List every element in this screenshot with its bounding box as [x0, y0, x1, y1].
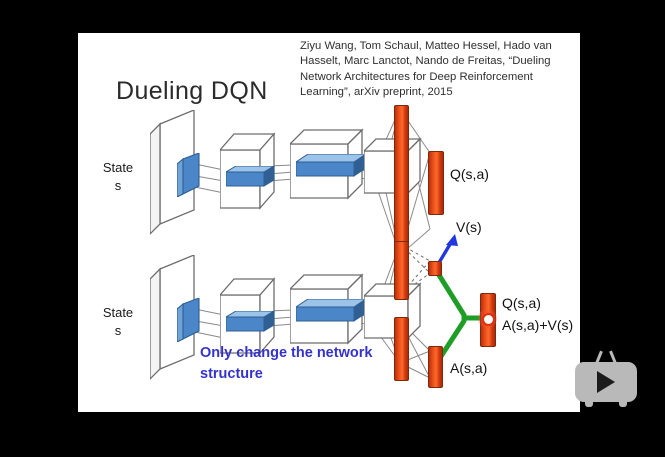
- tv-foot-right-icon: [619, 400, 627, 407]
- conv-filter-bottom-1: [226, 311, 278, 333]
- annotation-note: Only change the network structure: [200, 343, 380, 385]
- state-word: State: [90, 304, 146, 322]
- output-layer-top: [428, 151, 444, 215]
- video-play-button[interactable]: [575, 350, 637, 408]
- page-title: Dueling DQN: [116, 77, 268, 106]
- value-label: V(s): [456, 219, 482, 235]
- state-sub: s: [90, 322, 146, 340]
- state-label-top: State s: [90, 159, 146, 195]
- screen-root: State s: [0, 0, 665, 457]
- state-word: State: [90, 159, 146, 177]
- dueling-q-label: Q(s,a): [502, 295, 541, 311]
- cursor-dot: [482, 313, 495, 326]
- dueling-formula-label: A(s,a)+V(s): [502, 317, 573, 333]
- paper-citation: Ziyu Wang, Tom Schaul, Matteo Hessel, Ha…: [300, 39, 576, 101]
- cursor-highlight: [482, 313, 493, 324]
- conv-filter-top-2: [296, 154, 370, 178]
- value-stream-fc: [394, 241, 409, 300]
- conv-filter-bottom-2: [296, 299, 370, 323]
- q-label-top: Q(s,a): [450, 166, 489, 182]
- conv-filter-bottom-0: [177, 298, 202, 342]
- conv-filter-top-0: [177, 153, 202, 197]
- conv-filter-top-1: [226, 166, 278, 188]
- tv-foot-left-icon: [585, 400, 593, 407]
- presentation-slide: State s: [78, 33, 580, 412]
- state-label-bottom: State s: [90, 304, 146, 340]
- advantage-stream-fc: [394, 317, 409, 381]
- advantage-stream-output: [428, 346, 443, 388]
- advantage-label: A(s,a): [450, 360, 487, 376]
- state-sub: s: [90, 177, 146, 195]
- value-stream-output: [428, 261, 442, 276]
- play-triangle-icon: [597, 371, 615, 393]
- fc-layer-top: [394, 105, 409, 261]
